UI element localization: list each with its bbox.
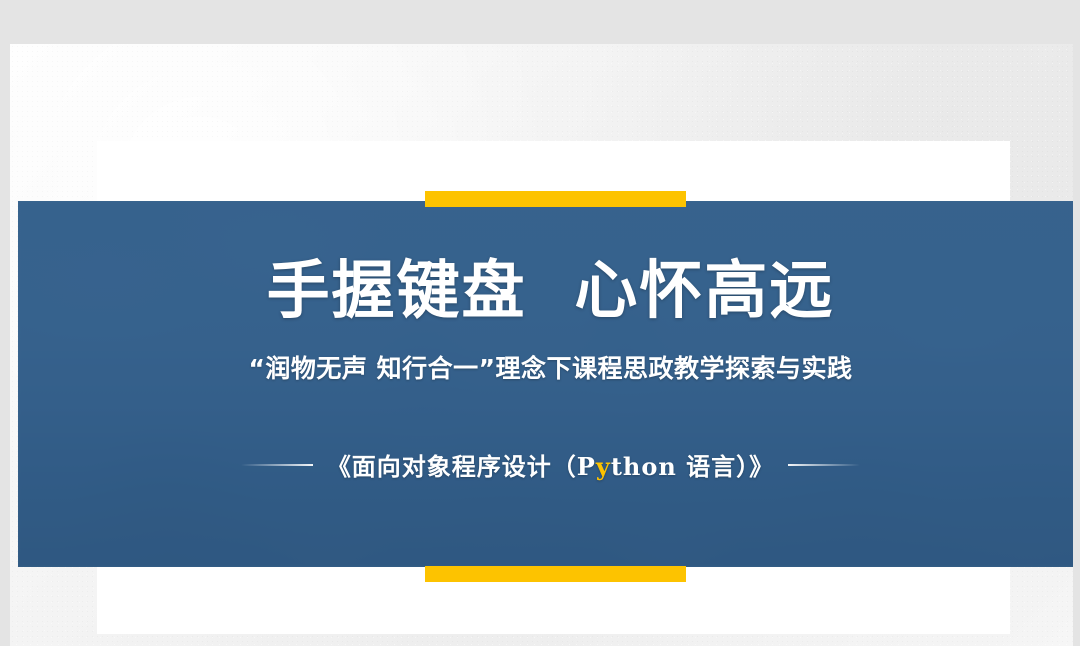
slide-hero-band [18, 201, 1073, 567]
blue-overlay-tint-secondary [18, 201, 1073, 567]
accent-bar-bottom [425, 566, 686, 582]
slide-viewer: 手握键盘 心怀高远 “润物无声 知行合一”理念下课程思政教学探索与实践 《面向对… [0, 0, 1080, 646]
accent-bar-top [425, 191, 686, 207]
presentation-slide: 手握键盘 心怀高远 “润物无声 知行合一”理念下课程思政教学探索与实践 《面向对… [10, 44, 1073, 646]
